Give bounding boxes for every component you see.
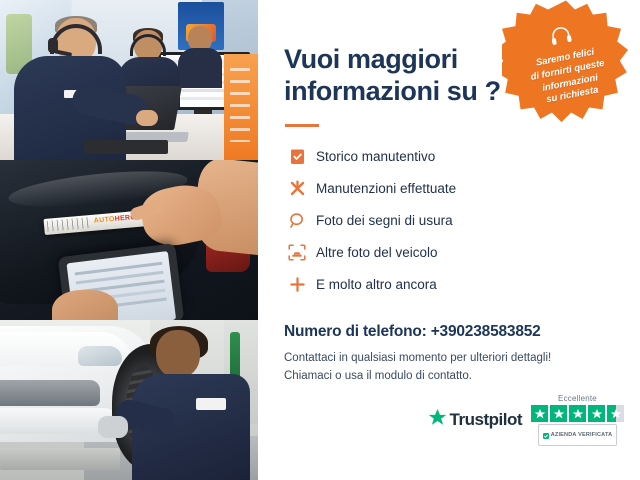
orange-banner-stand [224,54,258,160]
list-item: Altre foto del veicolo [284,239,640,267]
verified-label: AZIENDA VERIFICATA [551,432,613,438]
magnifier-icon [284,212,310,229]
list-item-label: Altre foto del veicolo [316,245,438,260]
title-divider [285,124,319,127]
phone-number[interactable]: Numero di telefono: +390238583852 [284,323,640,341]
page-title: Vuoi maggiori informazioni su ? [284,44,524,108]
rating-label: Eccellente [558,394,597,403]
trustpilot-badge[interactable]: Trustpilot Eccellente AZIENDA VERIFICATA [428,394,624,446]
list-item-label: E molto altro ancora [316,277,437,292]
headset-icon [548,23,574,52]
mechanic [132,330,250,480]
verified-company-badge: AZIENDA VERIFICATA [538,424,618,446]
list-item-label: Foto dei segni di usura [316,213,453,228]
list-item: Foto dei segni di usura [284,207,640,235]
holding-hand [52,290,118,320]
mechanic-tire-check-photo [0,320,258,480]
verified-check-icon [543,426,549,444]
contact-description: Contattaci in qualsiasi momento per ulte… [284,350,640,386]
star-icon [588,405,605,422]
trustpilot-rating: Eccellente AZIENDA VERIFICATA [531,394,624,446]
foreground-agent [14,18,126,160]
call-center-agents-photo [0,0,258,160]
list-item-label: Manutenzioni effettuate [316,181,456,196]
trustpilot-wordmark: Trustpilot [450,410,522,430]
badge-content: Saremo felici di fornirti queste informa… [491,0,640,137]
contact-line-2: Chiamaci o usa il modulo di contatto. [284,368,640,386]
trustpilot-star-icon [428,408,447,432]
star-half-icon [607,405,624,422]
star-rating [531,405,624,422]
clipboard-check-icon [284,148,310,165]
photo-scan-car-icon [284,244,310,261]
contact-line-1: Contattaci in qualsiasi momento per ulte… [284,350,640,368]
star-icon [569,405,586,422]
starburst-badge: Saremo felici di fornirti queste informa… [502,0,630,126]
keyboard [84,140,168,154]
star-icon [531,405,548,422]
photo-column: AUTOHERO [0,0,258,480]
info-request-banner: AUTOHERO Vuoi maggiori inform [0,0,640,480]
list-item: Storico manutentivo [284,143,640,171]
car-inspection-ruler-photo: AUTOHERO [0,160,258,320]
background-person-2 [178,26,222,82]
list-item: E molto altro ancora [284,271,640,299]
tools-wrench-icon [284,180,310,197]
list-item-label: Storico manutentivo [316,149,435,164]
ruler-logo-auto: AUTO [94,216,115,225]
feature-list: Storico manutentivo Manutenzioni effettu… [284,143,640,299]
plus-icon [284,276,310,293]
trustpilot-logo: Trustpilot [428,408,522,432]
car-lift-arm [0,448,120,470]
list-item: Manutenzioni effettuate [284,175,640,203]
star-icon [550,405,567,422]
badge-text: Saremo felici di fornirti queste informa… [527,45,610,110]
content-panel: Vuoi maggiori informazioni su ? Storico … [258,0,640,480]
